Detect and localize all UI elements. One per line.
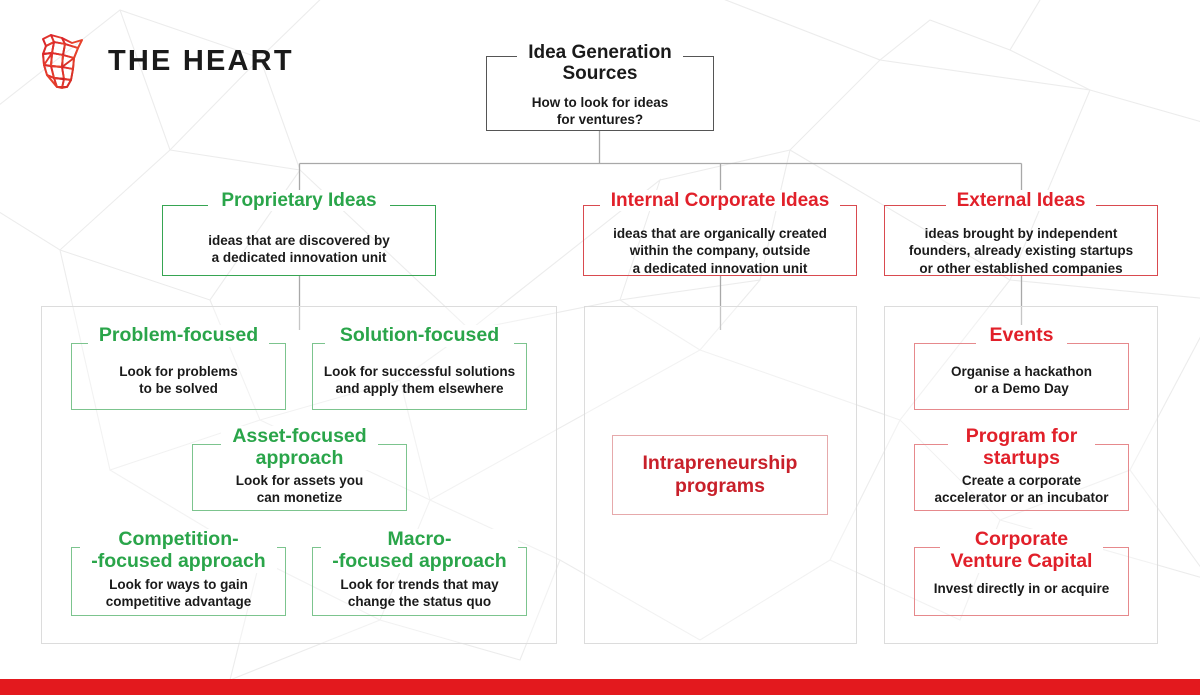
node-title: External Ideas (946, 190, 1097, 211)
node-body: ideas that are discovered by a dedicated… (168, 232, 430, 267)
node-body: How to look for ideas for ventures? (492, 94, 708, 129)
node-asset-focused-approach: Asset-focused approach Look for assets y… (192, 426, 407, 511)
node-body: Look for assets you can monetize (198, 472, 401, 507)
node-title-wrap: Solution-focused (312, 325, 527, 347)
node-title-wrap: Competition- -focused approach (71, 529, 286, 573)
node-title: Idea Generation Sources (517, 42, 683, 85)
node-macro-focused-approach: Macro- -focused approach Look for trends… (312, 529, 527, 616)
node-idea-generation-sources: Idea Generation Sources How to look for … (486, 42, 714, 131)
node-problem-focused: Problem-focused Look for problems to be … (71, 325, 286, 410)
node-external-ideas: External Ideas ideas brought by independ… (884, 190, 1158, 276)
node-title: Internal Corporate Ideas (600, 190, 841, 211)
node-body: Look for problems to be solved (77, 363, 280, 398)
node-title-wrap: Idea Generation Sources (486, 42, 714, 85)
node-body: ideas brought by independent founders, a… (890, 225, 1152, 277)
node-internal-corporate-ideas: Internal Corporate Ideas ideas that are … (583, 190, 857, 276)
node-title: Events (979, 325, 1065, 347)
node-title: Program for startups (955, 426, 1089, 470)
node-label: Intrapreneurship programs (620, 452, 820, 499)
brand-wordmark: THE HEART (108, 45, 294, 78)
node-body: Organise a hackathon or a Demo Day (920, 363, 1123, 398)
node-proprietary-ideas: Proprietary Ideas ideas that are discove… (162, 190, 436, 276)
node-title: Macro- -focused approach (321, 529, 517, 573)
node-competition-focused-approach: Competition- -focused approach Look for … (71, 529, 286, 616)
node-solution-focused: Solution-focused Look for successful sol… (312, 325, 527, 410)
node-title-wrap: Problem-focused (71, 325, 286, 347)
node-program-for-startups: Program for startups Create a corporate … (914, 426, 1129, 511)
node-title: Asset-focused approach (221, 426, 377, 470)
node-title: Proprietary Ideas (210, 190, 387, 211)
node-title-wrap: Events (914, 325, 1129, 347)
node-title-wrap: Program for startups (914, 426, 1129, 470)
node-title-wrap: Internal Corporate Ideas (583, 190, 857, 211)
node-events: Events Organise a hackathon or a Demo Da… (914, 325, 1129, 410)
node-title: Problem-focused (88, 325, 269, 347)
node-title-wrap: Asset-focused approach (192, 426, 407, 470)
node-body: Look for successful solutions and apply … (318, 363, 521, 398)
node-body: Look for ways to gain competitive advant… (77, 576, 280, 611)
node-body: ideas that are organically created withi… (589, 225, 851, 277)
node-body: Look for trends that may change the stat… (318, 576, 521, 611)
node-title: Corporate Venture Capital (940, 529, 1104, 573)
node-title: Competition- -focused approach (80, 529, 276, 573)
node-title: Solution-focused (329, 325, 510, 347)
brand-logo: THE HEART (38, 30, 294, 92)
heart-polygon-icon (38, 30, 94, 92)
node-body: Invest directly in or acquire (920, 580, 1123, 597)
node-title-wrap: Corporate Venture Capital (914, 529, 1129, 573)
node-body: Create a corporate accelerator or an inc… (920, 472, 1123, 507)
node-title-wrap: Macro- -focused approach (312, 529, 527, 573)
node-title-wrap: Proprietary Ideas (162, 190, 436, 211)
node-title-wrap: External Ideas (884, 190, 1158, 211)
bottom-accent-bar (0, 679, 1200, 695)
